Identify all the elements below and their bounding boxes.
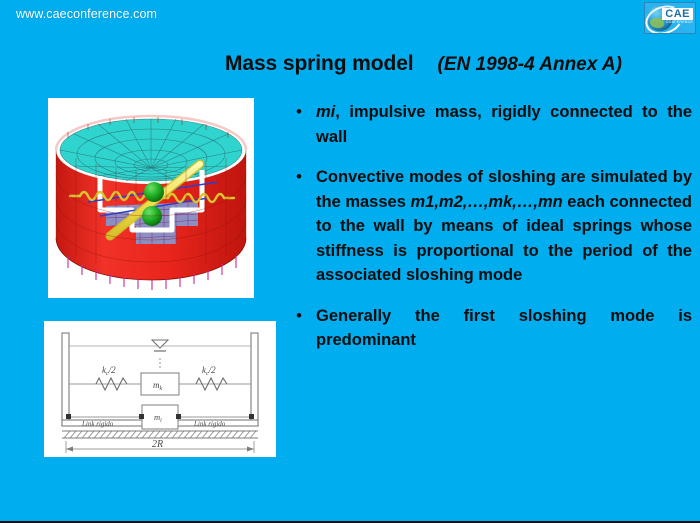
- convective-mass-subscript: k: [160, 386, 163, 392]
- list-item-text: Generally the first sloshing mode is pre…: [316, 304, 692, 353]
- mass-spring-schematic-svg: kc/2 kc/2 mk mi Link rigido Link rigido …: [44, 321, 276, 457]
- list-item: • Generally the first sloshing mode is p…: [296, 304, 692, 353]
- bullet-2-seg-0: Generally the first sloshing mode is pre…: [316, 307, 692, 350]
- title-standard-reference: (EN 1998-4 Annex A): [438, 54, 622, 75]
- bullet-list: • mi, impulsive mass, rigidly connected …: [296, 100, 692, 369]
- bullet-marker-icon: •: [296, 165, 316, 189]
- mass-sphere-upper: [144, 182, 164, 202]
- tank-3d-svg: [48, 98, 254, 298]
- cae-logo: CAE CONFERENCE: [644, 2, 696, 34]
- cae-logo-wordmark: CAE: [662, 8, 693, 20]
- site-url-text: www.caeconference.com: [16, 7, 157, 21]
- link-right-label: Link rigido: [193, 420, 226, 428]
- slide-title-row: Mass spring model(EN 1998-4 Annex A): [225, 52, 622, 76]
- bullet-0-seg-0: mi: [316, 103, 335, 121]
- bullet-0-seg-1: , impulsive mass, rigidly connected to t…: [316, 103, 692, 146]
- mass-spring-schematic-image: kc/2 kc/2 mk mi Link rigido Link rigido …: [44, 321, 276, 457]
- link-left-label: Link rigido: [81, 420, 114, 428]
- tank-3d-render-image: [48, 98, 254, 298]
- page-title: Mass spring model: [225, 52, 414, 75]
- list-item: • Convective modes of sloshing are simul…: [296, 165, 692, 288]
- bullet-marker-icon: •: [296, 100, 316, 124]
- list-item-text: Convective modes of sloshing are simulat…: [316, 165, 692, 288]
- list-item-text: mi, impulsive mass, rigidly connected to…: [316, 100, 692, 149]
- bullet-marker-icon: •: [296, 304, 316, 328]
- cae-logo-subword: CONFERENCE: [666, 20, 693, 24]
- bullet-1-seg-1: m1,m2,…,mk,…,mn: [410, 193, 562, 211]
- spring-right-tail: /2: [208, 365, 217, 375]
- list-item: • mi, impulsive mass, rigidly connected …: [296, 100, 692, 149]
- dimension-label: 2R: [152, 439, 163, 450]
- presentation-slide: www.caeconference.com CAE CONFERENCE Mas…: [0, 0, 700, 523]
- spring-left-tail: /2: [108, 365, 117, 375]
